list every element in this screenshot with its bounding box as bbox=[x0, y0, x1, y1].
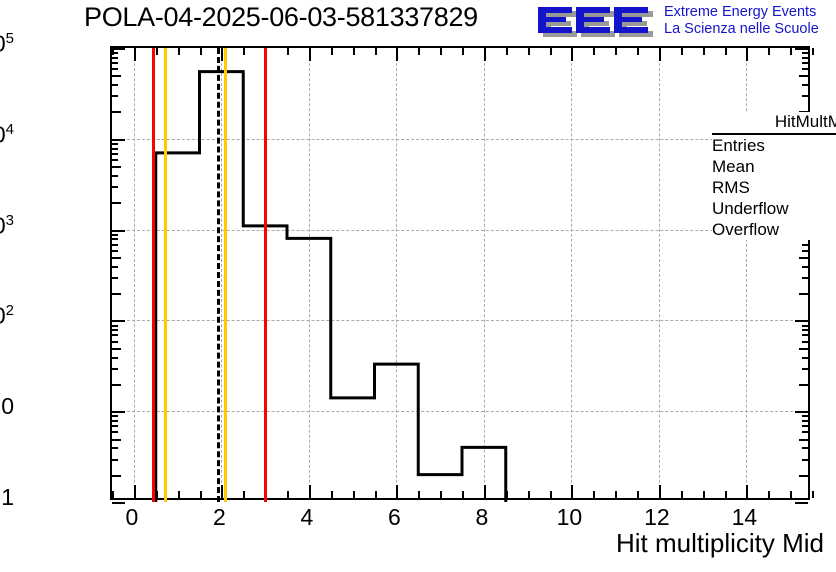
x-tick-label: 12 bbox=[627, 504, 687, 531]
y-tick-label: 105 bbox=[0, 30, 14, 58]
y-tick-label: 103 bbox=[0, 212, 14, 240]
stats-label: Overflow bbox=[712, 220, 779, 240]
marker-line-red-right bbox=[264, 48, 267, 502]
stats-label: Underflow bbox=[712, 199, 789, 219]
marker-line-black-mean bbox=[217, 48, 220, 502]
x-tick-label: 2 bbox=[189, 504, 249, 531]
stats-label: RMS bbox=[712, 178, 750, 198]
stats-row: Entries61992 bbox=[712, 135, 836, 156]
eee-logo-text: Extreme Energy Events La Scienza nelle S… bbox=[664, 4, 819, 38]
eee-logo: Extreme Energy Events La Scienza nelle S… bbox=[536, 2, 834, 42]
stats-label: Entries bbox=[712, 136, 765, 156]
plot-frame: HitMultMid Entries61992Mean1.941RMS0.420… bbox=[110, 46, 810, 500]
x-tick-label: 6 bbox=[364, 504, 424, 531]
x-tick-minor bbox=[812, 491, 814, 498]
eee-logo-line1: Extreme Energy Events bbox=[664, 4, 819, 21]
marker-line-orange-right bbox=[224, 48, 227, 502]
x-tick-label: 10 bbox=[539, 504, 599, 531]
y-tick-label: 102 bbox=[0, 302, 14, 330]
stats-row: RMS0.4204 bbox=[712, 177, 836, 198]
stats-row: Mean1.941 bbox=[712, 156, 836, 177]
stats-title: HitMultMid bbox=[712, 112, 836, 135]
stats-label: Mean bbox=[712, 157, 755, 177]
root-canvas: POLA-04-2025-06-03-581337829 Extreme Ene… bbox=[0, 0, 836, 572]
y-tick-label: 10 bbox=[0, 393, 14, 420]
stats-box: HitMultMid Entries61992Mean1.941RMS0.420… bbox=[712, 112, 836, 240]
eee-logo-line2: La Scienza nelle Scuole bbox=[664, 21, 819, 38]
marker-line-red-left bbox=[152, 48, 155, 502]
stats-row: Underflow0 bbox=[712, 198, 836, 219]
stats-rows: Entries61992Mean1.941RMS0.4204Underflow0… bbox=[712, 135, 836, 240]
x-tick-label: 0 bbox=[102, 504, 162, 531]
y-tick-major-right bbox=[795, 502, 808, 504]
stats-row: Overflow0 bbox=[712, 219, 836, 240]
x-tick-label: 8 bbox=[452, 504, 512, 531]
histogram-outline bbox=[156, 72, 506, 502]
marker-line-orange-left bbox=[164, 48, 167, 502]
y-tick-label: 104 bbox=[0, 121, 14, 149]
x-tick-label: 14 bbox=[714, 504, 774, 531]
eee-mark-icon bbox=[536, 3, 656, 39]
y-tick-label: 1 bbox=[1, 484, 14, 511]
x-tick-label: 4 bbox=[277, 504, 337, 531]
page-title: POLA-04-2025-06-03-581337829 bbox=[84, 2, 478, 33]
x-tick-top bbox=[812, 48, 814, 55]
x-axis-title: Hit multiplicity Mid bbox=[616, 528, 824, 559]
